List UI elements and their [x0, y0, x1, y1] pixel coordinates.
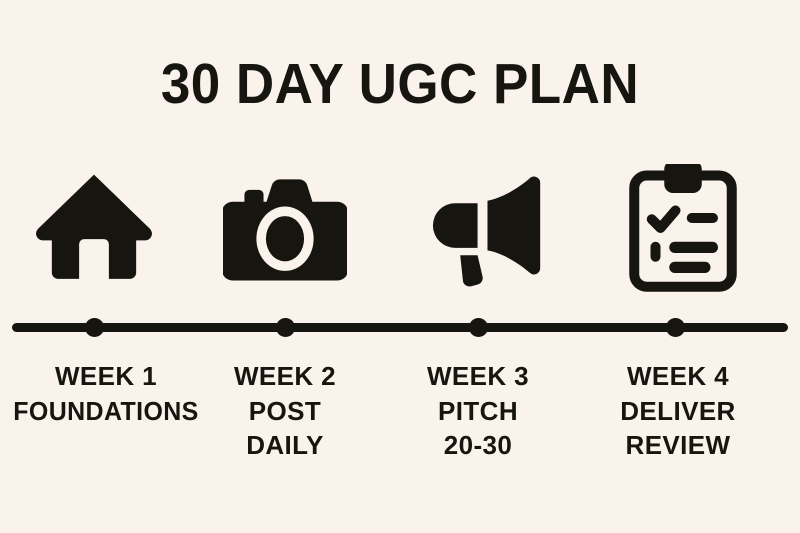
clipboard-icon-slot	[613, 160, 753, 295]
milestone-label-week-3: WEEK 3 PITCH 20-30	[378, 358, 578, 462]
week-heading: WEEK 1	[6, 358, 206, 394]
label-row: WEEK 1 FOUNDATIONS WEEK 2 POST DAILY WEE…	[0, 358, 800, 498]
week-detail-line: FOUNDATIONS	[10, 394, 202, 428]
megaphone-icon	[423, 166, 547, 290]
timeline-dot-week-3	[469, 318, 488, 337]
week-detail-line: PITCH	[378, 394, 578, 428]
milestone-label-week-1: WEEK 1 FOUNDATIONS	[6, 358, 206, 428]
week-heading: WEEK 2	[185, 358, 385, 394]
week-detail-line: REVIEW	[578, 428, 778, 462]
week-detail-line: DELIVER	[578, 394, 778, 428]
week-detail-line: POST	[185, 394, 385, 428]
milestone-label-week-2: WEEK 2 POST DAILY	[185, 358, 385, 462]
house-icon	[32, 166, 156, 290]
week-heading: WEEK 4	[578, 358, 778, 394]
icon-row	[0, 160, 800, 295]
week-heading: WEEK 3	[378, 358, 578, 394]
megaphone-icon-slot	[415, 160, 555, 295]
milestone-label-week-4: WEEK 4 DELIVER REVIEW	[578, 358, 778, 462]
page-title: 30 DAY UGC PLAN	[28, 52, 772, 116]
clipboard-checklist-icon	[628, 164, 738, 292]
week-detail-line: DAILY	[185, 428, 385, 462]
camera-icon	[223, 169, 347, 287]
house-icon-slot	[24, 160, 164, 295]
infographic-canvas: 30 DAY UGC PLAN	[0, 0, 800, 533]
timeline-dot-week-1	[85, 318, 104, 337]
week-detail-line: 20-30	[378, 428, 578, 462]
timeline-axis	[0, 318, 800, 340]
timeline-dot-week-2	[276, 318, 295, 337]
timeline-dot-week-4	[666, 318, 685, 337]
camera-icon-slot	[215, 160, 355, 295]
